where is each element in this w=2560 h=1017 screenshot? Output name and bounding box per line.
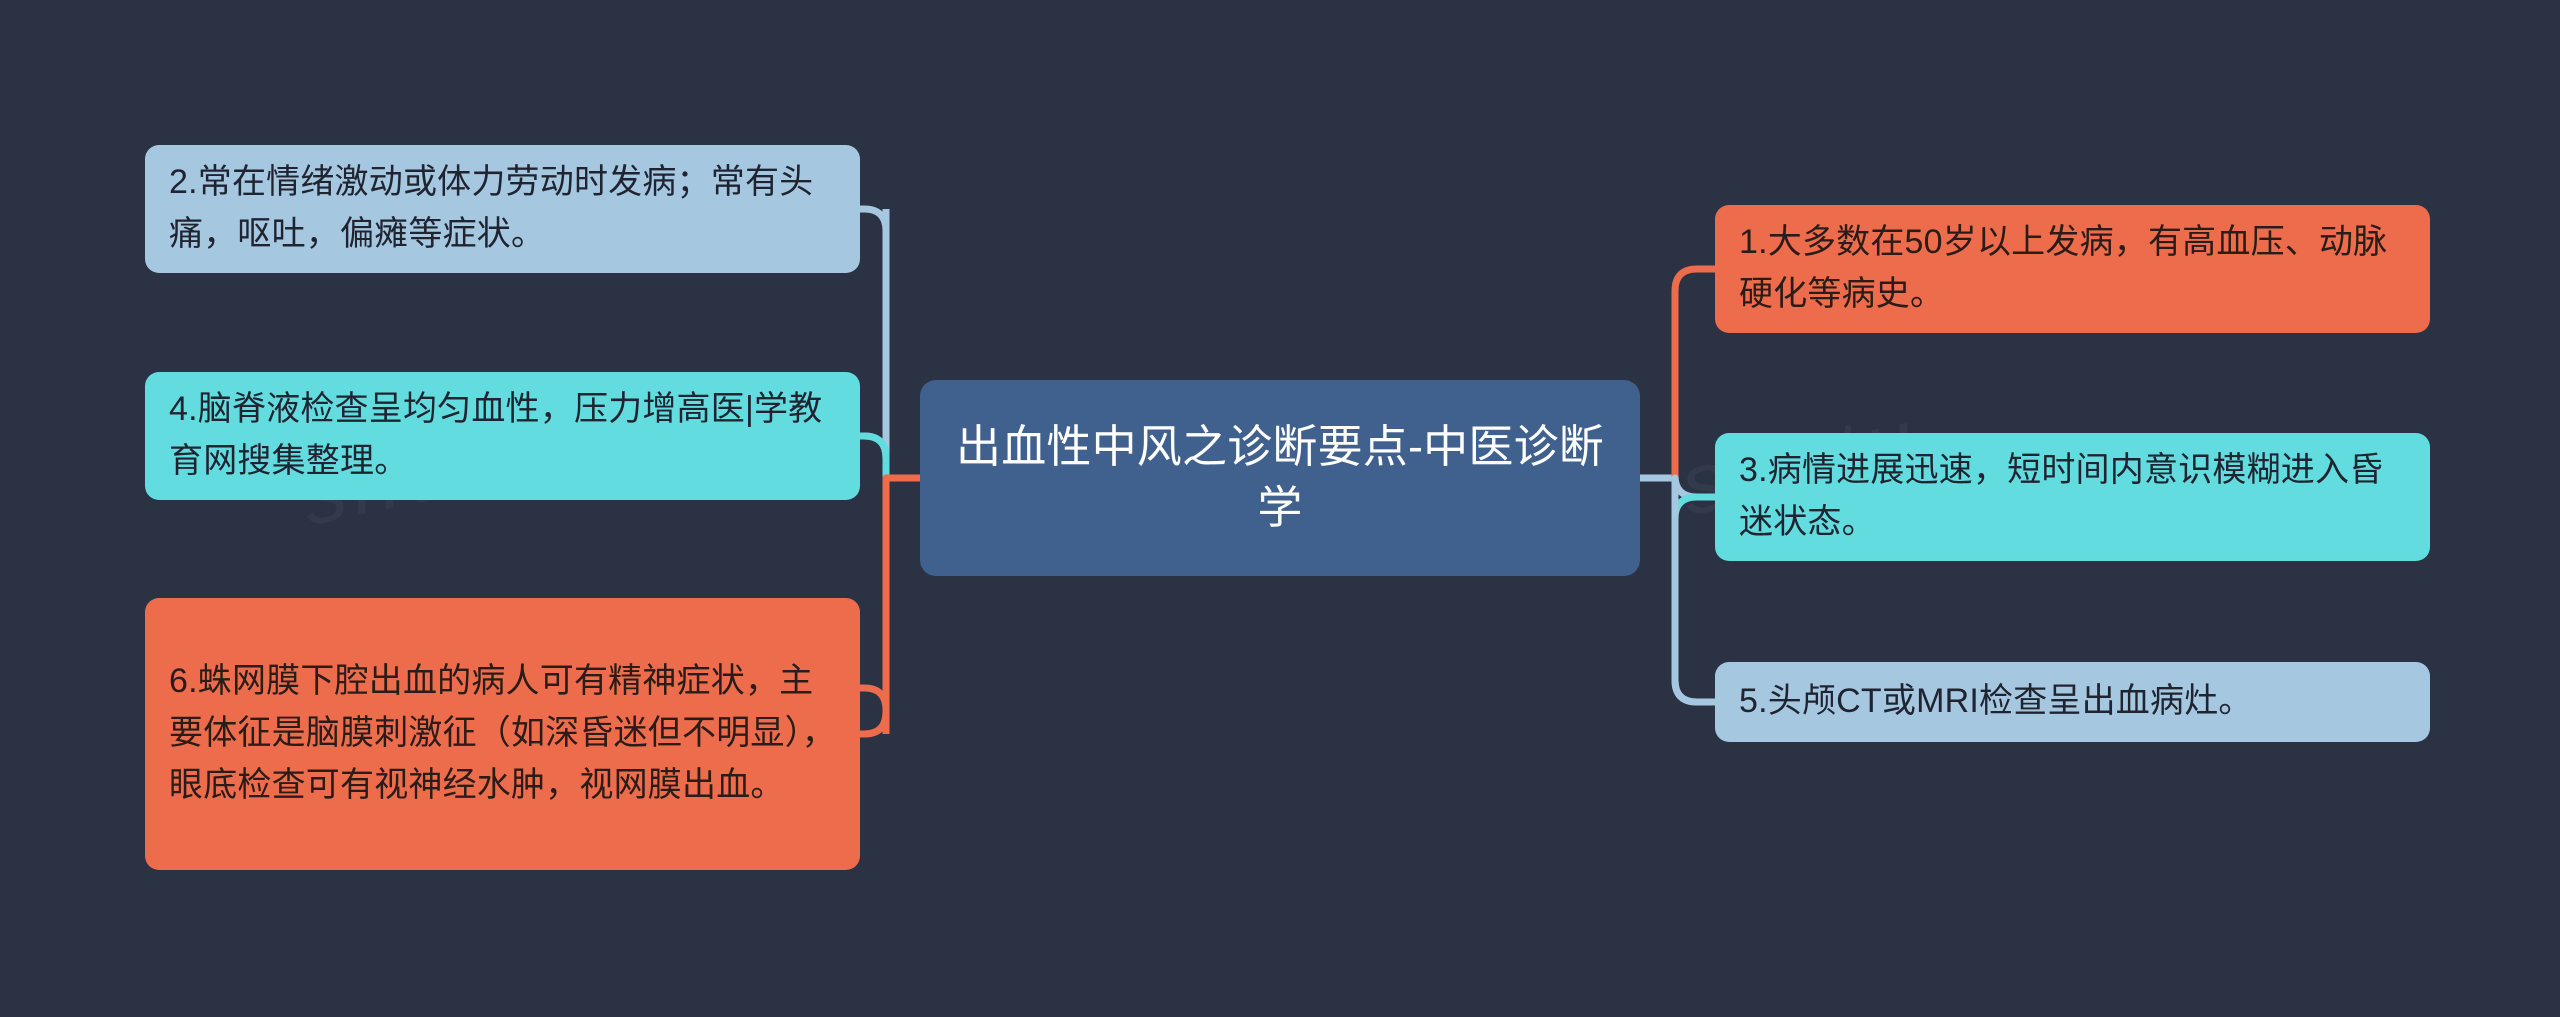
connector-left-node6 [860,688,886,734]
branch-node-4-label: 4.脑脊液检查呈均匀血性，压力增高医|学教育网搜集整理。 [169,384,836,487]
branch-node-1-label: 1.大多数在50岁以上发病，有高血压、动脉硬化等病史。 [1739,217,2406,320]
branch-node-4[interactable]: 4.脑脊液检查呈均匀血性，压力增高医|学教育网搜集整理。 [145,372,860,500]
connector-left-node4 [860,436,886,478]
connector-right-node1 [1675,269,1715,478]
branch-node-2-label: 2.常在情绪激动或体力劳动时发病；常有头痛，呕吐，偏瘫等症状。 [169,157,836,260]
branch-node-5-label: 5.头颅CT或MRI检查呈出血病灶。 [1739,676,2406,728]
central-node-label: 出血性中风之诊断要点-中医诊断学 [950,417,1610,539]
connector-left-node6-top [860,478,886,734]
branch-node-3[interactable]: 3.病情进展迅速，短时间内意识模糊进入昏迷状态。 [1715,433,2430,561]
branch-node-2[interactable]: 2.常在情绪激动或体力劳动时发病；常有头痛，呕吐，偏瘫等症状。 [145,145,860,273]
connector-right-node3-cyan [1675,497,1715,520]
mindmap-canvas: shutu. shutu. 2.常在情绪激动 [0,0,2560,1017]
connector-left-node4-top [860,436,886,478]
central-node[interactable]: 出血性中风之诊断要点-中医诊断学 [920,380,1640,576]
connector-left-node2 [860,209,886,478]
branch-node-6[interactable]: 6.蛛网膜下腔出血的病人可有精神症状，主要体征是脑膜刺激征（如深昏迷但不明显），… [145,598,860,870]
connector-right-node5-top [1675,478,1715,702]
branch-node-1[interactable]: 1.大多数在50岁以上发病，有高血压、动脉硬化等病史。 [1715,205,2430,333]
connector-left-node6-elbow [860,478,886,734]
connector-right-node3 [1675,475,1715,497]
branch-node-5[interactable]: 5.头颅CT或MRI检查呈出血病灶。 [1715,662,2430,742]
connector-right-node5 [1675,478,1715,702]
branch-node-3-label: 3.病情进展迅速，短时间内意识模糊进入昏迷状态。 [1739,445,2406,548]
branch-node-6-label: 6.蛛网膜下腔出血的病人可有精神症状，主要体征是脑膜刺激征（如深昏迷但不明显），… [169,656,836,811]
